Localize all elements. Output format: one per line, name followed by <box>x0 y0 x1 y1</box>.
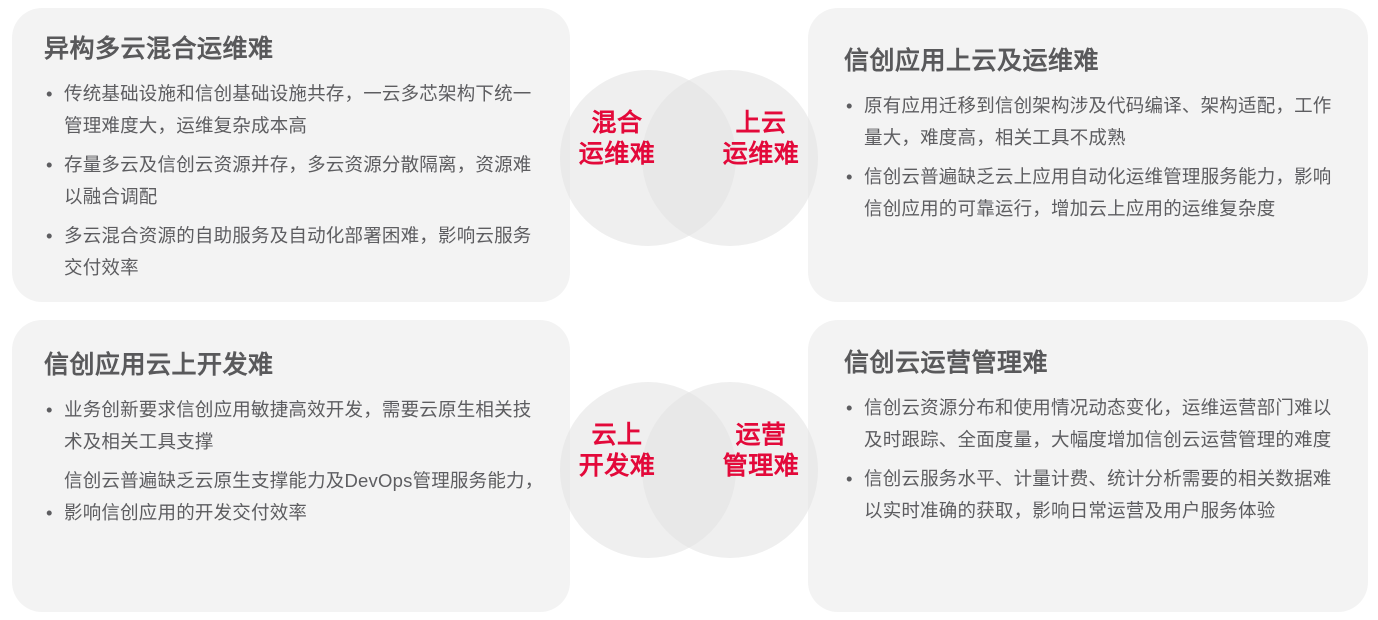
venn-label-line1: 混合 <box>562 108 672 139</box>
venn-diagram-top: 混合 运维难 上云 运维难 <box>560 70 818 246</box>
venn-label-line1: 运营 <box>706 420 816 451</box>
list-item-text: 信创云资源分布和使用情况动态变化，运维运营部门难以及时跟踪、全面度量，大幅度增加… <box>864 397 1332 450</box>
list-item-text: 传统基础设施和信创基础设施共存，一云多芯架构下统一管理难度大，运维复杂成本高 <box>64 83 532 136</box>
card-title: 信创应用上云及运维难 <box>844 46 1342 76</box>
list-item: • 信创云普遍缺乏云上应用自动化运维管理服务能力，影响信创应用的可靠运行，增加云… <box>844 161 1342 225</box>
list-item: • 信创云普遍缺乏云原生支撑能力及DevOps管理服务能力，影响信创应用的开发交… <box>44 465 546 529</box>
list-item: • 传统基础设施和信创基础设施共存，一云多芯架构下统一管理难度大，运维复杂成本高 <box>44 78 546 142</box>
venn-label-cloud-development: 云上 开发难 <box>562 420 672 482</box>
card-xinchuang-app-cloud-migration-ops: 信创应用上云及运维难 • 原有应用迁移到信创架构涉及代码编译、架构适配，工作量大… <box>808 8 1368 302</box>
bullet-dot-icon: • <box>46 220 53 252</box>
card-title: 信创云运营管理难 <box>844 348 1342 378</box>
bullet-dot-icon: • <box>46 394 53 426</box>
card-content: 异构多云混合运维难 • 传统基础设施和信创基础设施共存，一云多芯架构下统一管理难… <box>12 34 570 291</box>
list-item-text: 信创云服务水平、计量计费、统计分析需要的相关数据难以实时准确的获取，影响日常运营… <box>864 468 1332 521</box>
bullet-list: • 传统基础设施和信创基础设施共存，一云多芯架构下统一管理难度大，运维复杂成本高… <box>44 78 546 284</box>
list-item: • 业务创新要求信创应用敏捷高效开发，需要云原生相关技术及相关工具支撑 <box>44 394 546 458</box>
list-item-text: 原有应用迁移到信创架构涉及代码编译、架构适配，工作量大，难度高，相关工具不成熟 <box>864 95 1332 148</box>
venn-label-line2: 开发难 <box>562 451 672 482</box>
list-item-text: 存量多云及信创云资源并存，多云资源分散隔离，资源难以融合调配 <box>64 154 532 207</box>
bullet-dot-icon: • <box>846 463 853 495</box>
list-item: • 多云混合资源的自助服务及自动化部署困难，影响云服务交付效率 <box>44 220 546 284</box>
card-content: 信创云运营管理难 • 信创云资源分布和使用情况动态变化，运维运营部门难以及时跟踪… <box>808 348 1368 534</box>
venn-label-line1: 上云 <box>706 108 816 139</box>
card-title: 信创应用云上开发难 <box>44 350 546 380</box>
venn-label-line2: 管理难 <box>706 451 816 482</box>
card-heterogeneous-multicloud-ops: 异构多云混合运维难 • 传统基础设施和信创基础设施共存，一云多芯架构下统一管理难… <box>12 8 570 302</box>
list-item-text: 业务创新要求信创应用敏捷高效开发，需要云原生相关技术及相关工具支撑 <box>64 399 532 452</box>
venn-label-line2: 运维难 <box>562 139 672 170</box>
list-item-text: 信创云普遍缺乏云原生支撑能力及DevOps管理服务能力，影响信创应用的开发交付效… <box>64 470 543 523</box>
bullet-dot-icon: • <box>846 392 853 424</box>
card-title: 异构多云混合运维难 <box>44 34 546 64</box>
venn-label-hybrid-ops: 混合 运维难 <box>562 108 672 170</box>
card-content: 信创应用上云及运维难 • 原有应用迁移到信创架构涉及代码编译、架构适配，工作量大… <box>808 46 1368 232</box>
bullet-dot-icon: • <box>846 90 853 122</box>
card-xinchuang-cloud-operations-management: 信创云运营管理难 • 信创云资源分布和使用情况动态变化，运维运营部门难以及时跟踪… <box>808 320 1368 612</box>
bullet-dot-icon: • <box>846 161 853 193</box>
list-item-text: 多云混合资源的自助服务及自动化部署困难，影响云服务交付效率 <box>64 225 532 278</box>
bullet-list: • 业务创新要求信创应用敏捷高效开发，需要云原生相关技术及相关工具支撑 • 信创… <box>44 394 546 529</box>
venn-label-line1: 云上 <box>562 420 672 451</box>
bullet-list: • 原有应用迁移到信创架构涉及代码编译、架构适配，工作量大，难度高，相关工具不成… <box>844 90 1342 225</box>
venn-diagram-bottom: 云上 开发难 运营 管理难 <box>560 382 818 558</box>
bullet-dot-icon: • <box>46 78 53 110</box>
bullet-dot-icon: • <box>46 497 53 529</box>
venn-label-operations-management: 运营 管理难 <box>706 420 816 482</box>
infographic-canvas: 异构多云混合运维难 • 传统基础设施和信创基础设施共存，一云多芯架构下统一管理难… <box>0 0 1378 620</box>
venn-label-line2: 运维难 <box>706 139 816 170</box>
list-item: • 原有应用迁移到信创架构涉及代码编译、架构适配，工作量大，难度高，相关工具不成… <box>844 90 1342 154</box>
venn-label-cloud-migration-ops: 上云 运维难 <box>706 108 816 170</box>
list-item: • 信创云服务水平、计量计费、统计分析需要的相关数据难以实时准确的获取，影响日常… <box>844 463 1342 527</box>
list-item-text: 信创云普遍缺乏云上应用自动化运维管理服务能力，影响信创应用的可靠运行，增加云上应… <box>864 166 1332 219</box>
bullet-list: • 信创云资源分布和使用情况动态变化，运维运营部门难以及时跟踪、全面度量，大幅度… <box>844 392 1342 527</box>
card-content: 信创应用云上开发难 • 业务创新要求信创应用敏捷高效开发，需要云原生相关技术及相… <box>12 350 570 536</box>
bullet-dot-icon: • <box>46 149 53 181</box>
card-xinchuang-app-cloud-development: 信创应用云上开发难 • 业务创新要求信创应用敏捷高效开发，需要云原生相关技术及相… <box>12 320 570 612</box>
list-item: • 存量多云及信创云资源并存，多云资源分散隔离，资源难以融合调配 <box>44 149 546 213</box>
list-item: • 信创云资源分布和使用情况动态变化，运维运营部门难以及时跟踪、全面度量，大幅度… <box>844 392 1342 456</box>
